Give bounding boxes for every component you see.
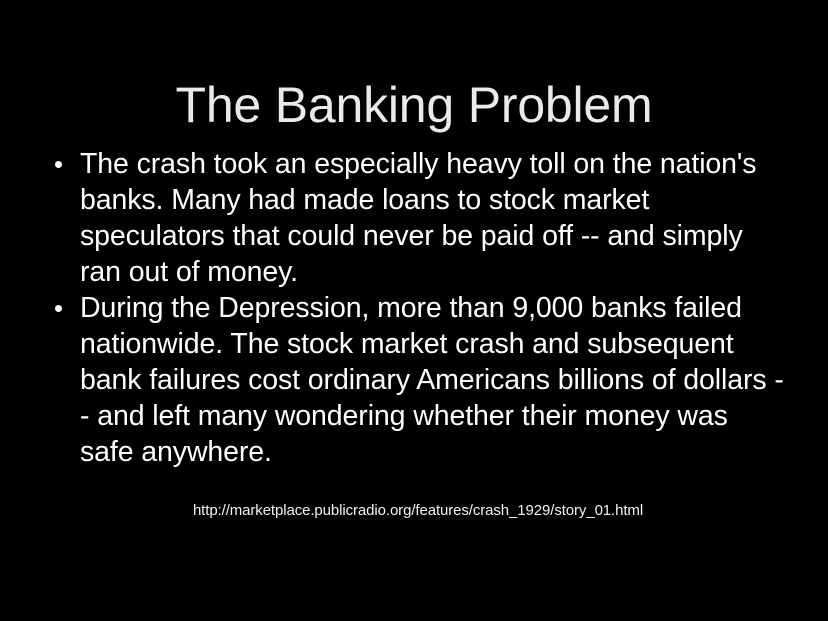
bullet-text: The crash took an especially heavy toll …: [80, 146, 786, 290]
bullet-text: During the Depression, more than 9,000 b…: [80, 290, 786, 470]
list-item: The crash took an especially heavy toll …: [46, 146, 786, 290]
slide-title: The Banking Problem: [0, 78, 828, 132]
bullet-dot-icon: [55, 161, 62, 168]
bullet-dot-icon: [55, 305, 62, 312]
list-item: During the Depression, more than 9,000 b…: [46, 290, 786, 470]
source-url-link[interactable]: http://marketplace.publicradio.org/featu…: [0, 502, 828, 520]
bullet-list: The crash took an especially heavy toll …: [46, 146, 786, 470]
presentation-slide: The Banking Problem The crash took an es…: [0, 0, 828, 621]
